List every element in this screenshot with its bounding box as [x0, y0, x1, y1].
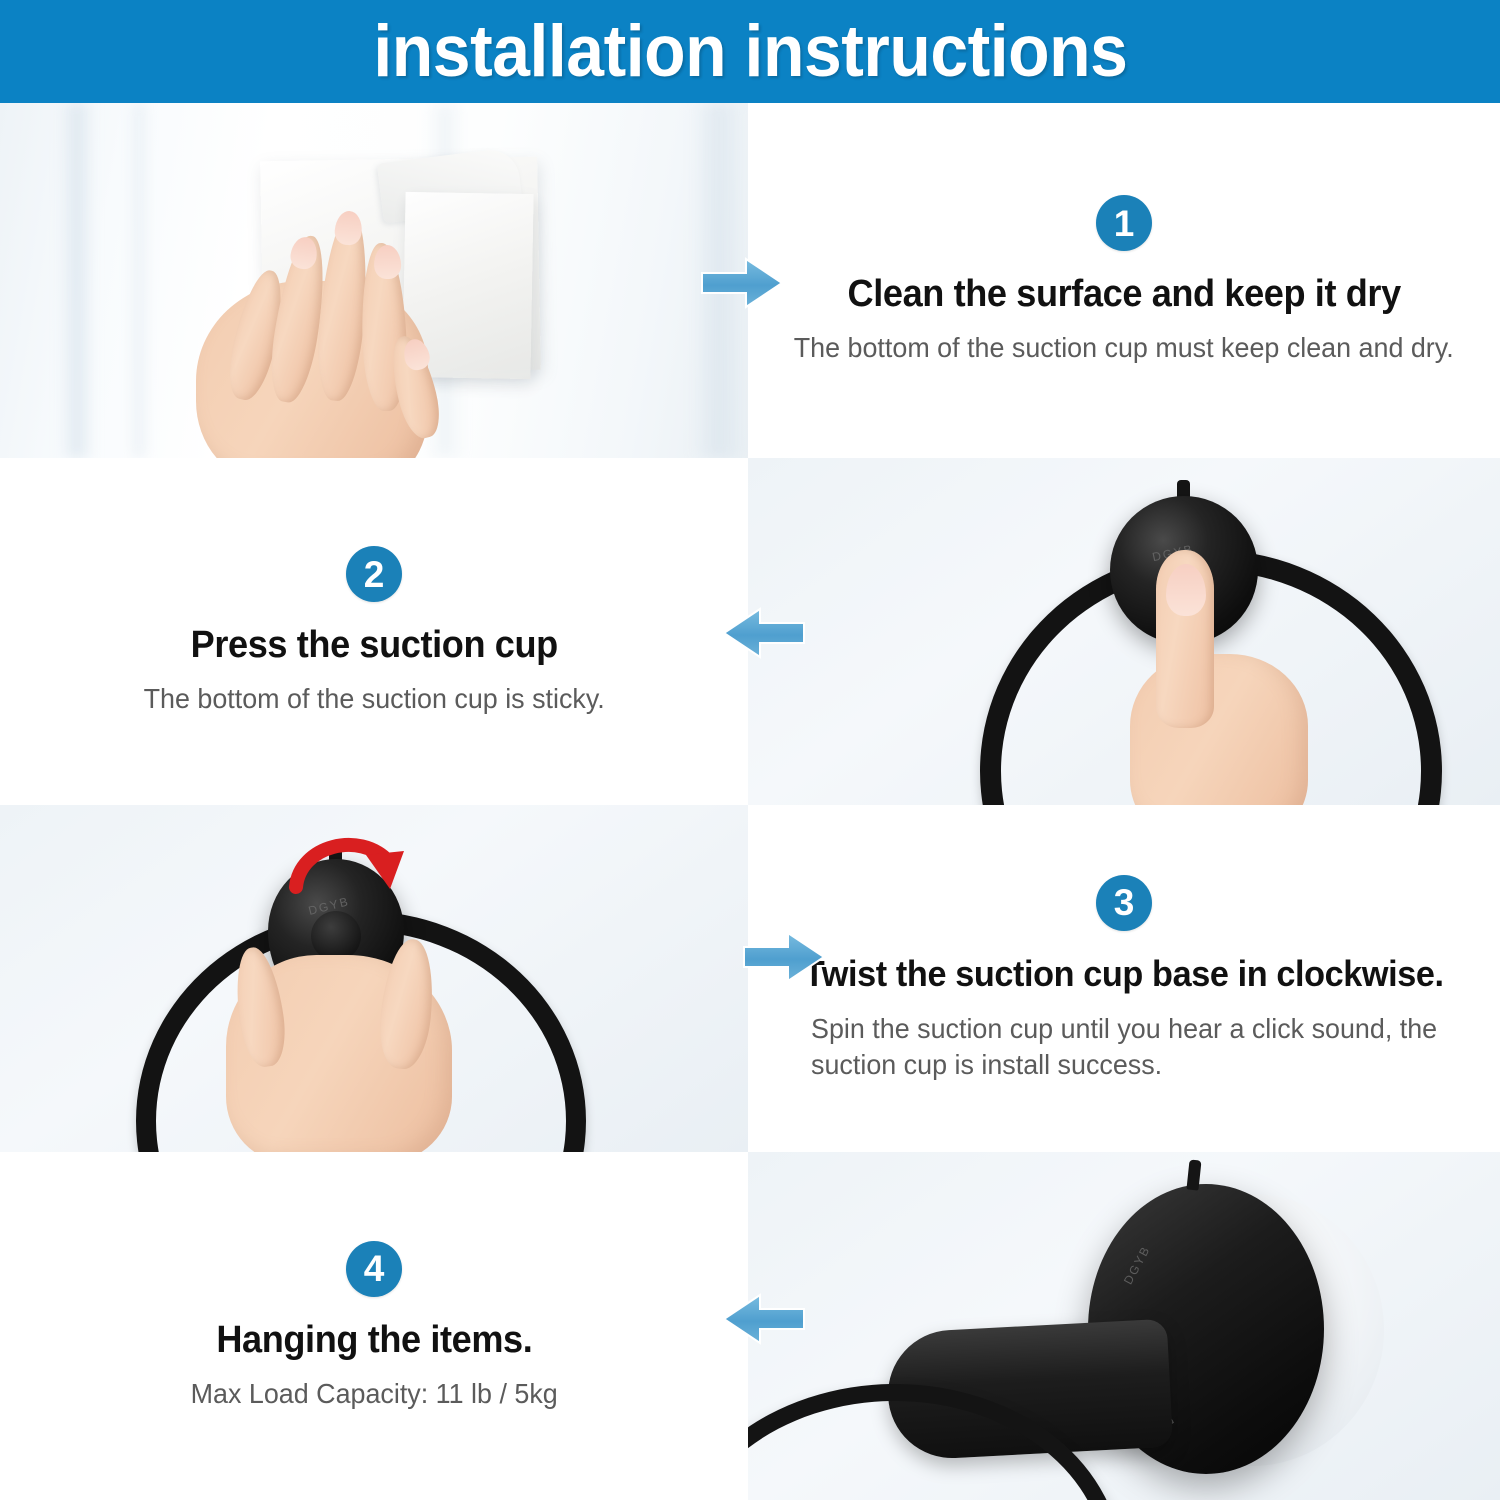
step-4-description: Max Load Capacity: 11 lb / 5kg: [190, 1376, 557, 1412]
step-3-photo: DGYB: [0, 805, 748, 1152]
step-3-description: Spin the suction cup until you hear a cl…: [811, 1011, 1437, 1083]
step-2-arrow-left-icon: [722, 606, 806, 660]
step-3-description-line-1: Spin the suction cup until you hear a cl…: [811, 1011, 1437, 1047]
step-1-number-badge: 1: [1096, 195, 1152, 251]
step-2-text-panel: 2 Press the suction cup The bottom of th…: [0, 458, 748, 805]
step-2-number-badge: 2: [346, 546, 402, 602]
step-4-heading: Hanging the items.: [216, 1319, 532, 1362]
step-3-number-badge: 3: [1096, 875, 1152, 931]
installation-instructions-sheet: installation instructions 1 Clean the su…: [0, 0, 1500, 1500]
step-2-heading: Press the suction cup: [190, 624, 557, 667]
step-2-photo: DGYB: [748, 458, 1500, 805]
wall-streak-b: [128, 103, 150, 458]
step-1-text-panel: 1 Clean the surface and keep it dry The …: [748, 103, 1500, 458]
step-4-text-panel: 4 Hanging the items. Max Load Capacity: …: [0, 1152, 748, 1500]
clockwise-rotate-arrow-icon: [288, 827, 418, 923]
step-1-photo: [0, 103, 748, 458]
step-4-arrow-left-icon: [722, 1292, 806, 1346]
step-1-description: The bottom of the suction cup must keep …: [794, 330, 1454, 366]
step-3-text-panel: 3 Twist the suction cup base in clockwis…: [748, 805, 1500, 1152]
step-1-heading: Clean the surface and keep it dry: [847, 273, 1400, 316]
step-3-heading: Twist the suction cup base in clockwise.: [804, 953, 1444, 995]
step-3-arrow-right-icon: [742, 930, 826, 984]
wall-streak-a: [60, 103, 94, 458]
step-4-photo: DGYB DGYB: [748, 1152, 1500, 1500]
step-1-arrow-right-icon: [700, 256, 784, 310]
step-4-number-badge: 4: [346, 1241, 402, 1297]
step-3-description-line-2: suction cup is install success.: [811, 1047, 1437, 1083]
step-2-description: The bottom of the suction cup is sticky.: [143, 681, 604, 717]
page-title: installation instructions: [373, 10, 1127, 93]
page-header-banner: installation instructions: [0, 0, 1500, 103]
